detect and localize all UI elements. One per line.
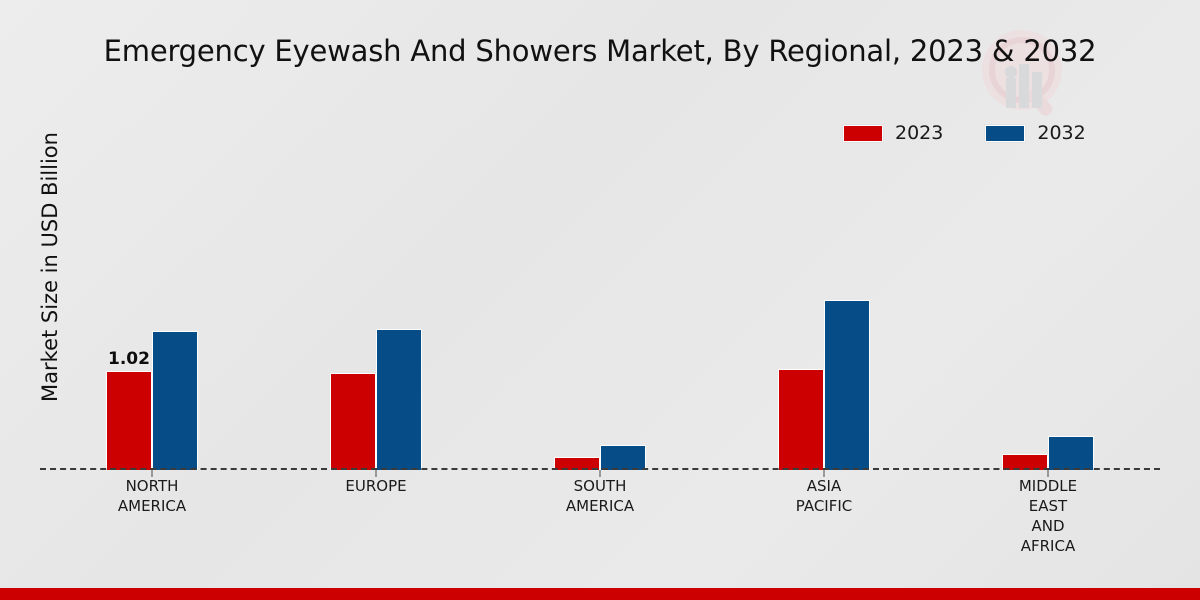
plot-area: 1.02NORTH AMERICAEUROPESOUTH AMERICAASIA…: [40, 150, 1160, 470]
chart-title: Emergency Eyewash And Showers Market, By…: [0, 34, 1200, 68]
bar-2032[interactable]: [1048, 436, 1094, 470]
bar-group: SOUTH AMERICA: [488, 150, 712, 470]
bar-value-label: 1.02: [108, 349, 150, 369]
bar-groups: 1.02NORTH AMERICAEUROPESOUTH AMERICAASIA…: [40, 150, 1160, 470]
bar-pair: [330, 150, 422, 470]
x-axis-category-label: EUROPE: [345, 476, 406, 496]
bar-pair: [1002, 150, 1094, 470]
bar-group: MIDDLE EAST AND AFRICA: [936, 150, 1160, 470]
bar-group: 1.02NORTH AMERICA: [40, 150, 264, 470]
bar-group: ASIA PACIFIC: [712, 150, 936, 470]
bar-2032[interactable]: [152, 331, 198, 470]
legend-swatch-2032: [985, 125, 1025, 142]
x-axis-category-label: NORTH AMERICA: [118, 476, 186, 516]
bottom-accent-strip: [0, 588, 1200, 600]
bar-2023[interactable]: [330, 373, 376, 470]
bar-pair: [778, 150, 870, 470]
bar-2023[interactable]: [778, 369, 824, 470]
bar-pair: 1.02: [106, 150, 198, 470]
x-axis-category-label: MIDDLE EAST AND AFRICA: [1019, 476, 1077, 556]
legend-swatch-2023: [843, 125, 883, 142]
legend-label-2032: 2032: [1037, 122, 1085, 144]
x-axis-category-label: ASIA PACIFIC: [796, 476, 853, 516]
bar-2032[interactable]: [600, 445, 646, 470]
x-axis-category-label: SOUTH AMERICA: [566, 476, 634, 516]
legend-item-2032[interactable]: 2032: [985, 122, 1085, 144]
legend-label-2023: 2023: [895, 122, 943, 144]
chart-canvas: Emergency Eyewash And Showers Market, By…: [0, 0, 1200, 600]
chart-legend: 2023 2032: [843, 122, 1086, 144]
bar-pair: [554, 150, 646, 470]
x-axis-baseline: [40, 468, 1160, 470]
bar-2023[interactable]: 1.02: [106, 371, 152, 470]
bar-2032[interactable]: [824, 300, 870, 470]
bar-group: EUROPE: [264, 150, 488, 470]
legend-item-2023[interactable]: 2023: [843, 122, 943, 144]
bar-2032[interactable]: [376, 329, 422, 470]
